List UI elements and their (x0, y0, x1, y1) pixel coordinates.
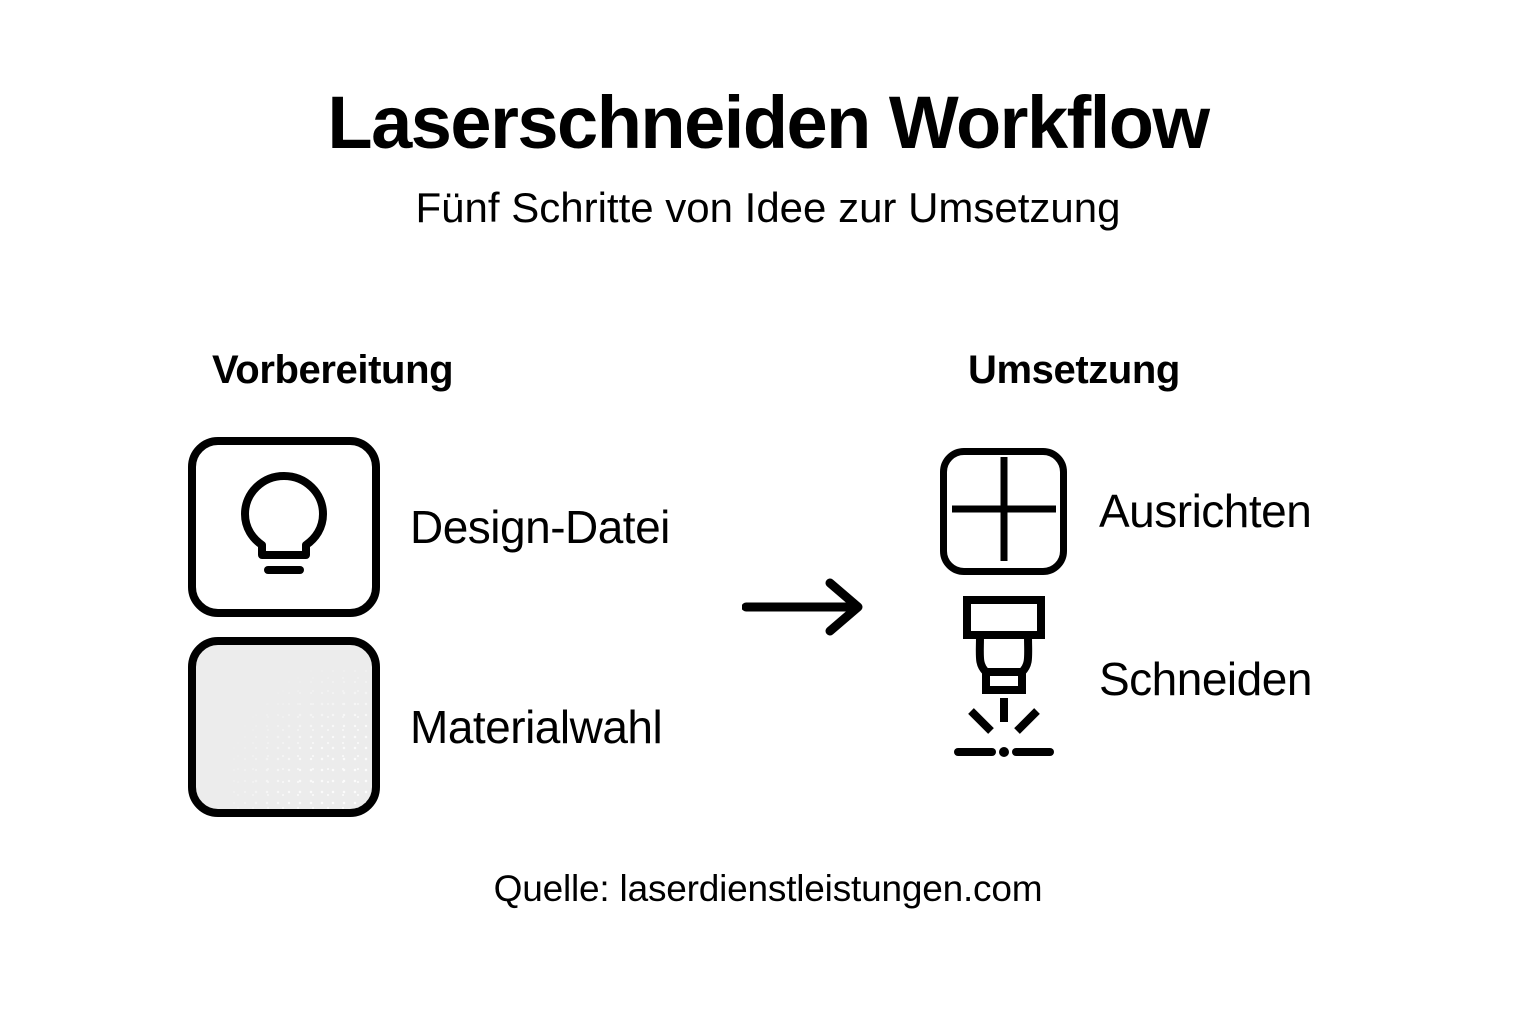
step-row-materialwahl[interactable]: Materialwahl (188, 627, 670, 827)
material-swatch-icon[interactable] (188, 637, 380, 817)
lightbulb-icon (231, 469, 337, 586)
column-heading-umsetzung: Umsetzung (968, 348, 1312, 393)
footer: Quelle: laserdienstleistungen.com (0, 868, 1536, 910)
header: Laserschneiden Workflow Fünf Schritte vo… (0, 86, 1536, 232)
step-label-ausrichten: Ausrichten (1099, 484, 1311, 538)
arrow-right-icon (742, 578, 868, 641)
step-row-schneiden[interactable]: Schneiden (940, 595, 1312, 763)
page-subtitle: Fünf Schritte von Idee zur Umsetzung (0, 160, 1536, 232)
step-row-ausrichten[interactable]: Ausrichten (940, 427, 1312, 595)
diagram-canvas: Laserschneiden Workflow Fünf Schritte vo… (0, 0, 1536, 1024)
column-umsetzung: Umsetzung Ausrichten (940, 348, 1312, 763)
tile-design-datei[interactable] (188, 437, 380, 617)
step-label-materialwahl: Materialwahl (410, 700, 662, 754)
laser-head-icon[interactable] (940, 594, 1067, 764)
crosshair-icon (949, 454, 1059, 569)
step-row-design-datei[interactable]: Design-Datei (188, 427, 670, 627)
step-label-design-datei: Design-Datei (410, 500, 670, 554)
step-label-schneiden: Schneiden (1099, 652, 1312, 706)
column-rows-umsetzung: Ausrichten (940, 427, 1312, 763)
column-heading-vorbereitung: Vorbereitung (212, 348, 670, 393)
page-title: Laserschneiden Workflow (0, 86, 1536, 160)
source-attribution: Quelle: laserdienstleistungen.com (494, 868, 1043, 909)
tile-ausrichten[interactable] (940, 448, 1067, 575)
column-rows-vorbereitung: Design-Datei Materialwahl (188, 427, 670, 827)
column-vorbereitung: Vorbereitung Design-Datei (188, 348, 670, 827)
